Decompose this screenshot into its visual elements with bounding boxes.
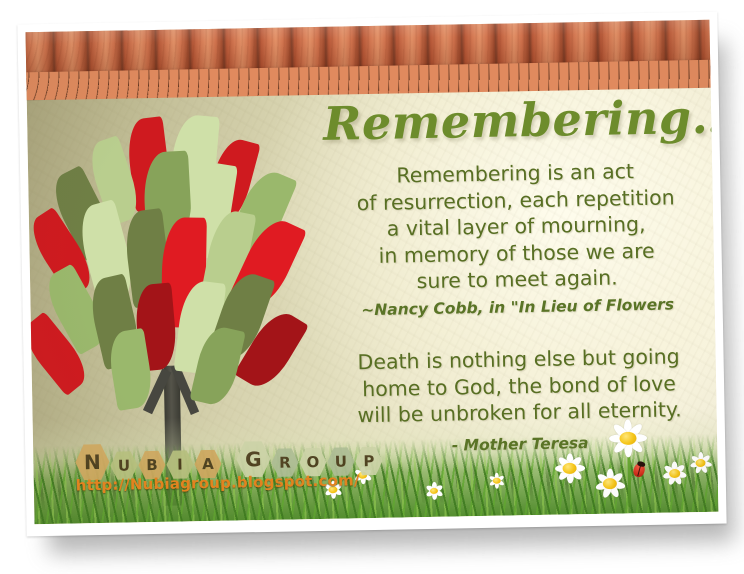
daisy-flower xyxy=(486,470,508,492)
watermark-url: http://Nubiagroup.blogspot.com/ xyxy=(76,471,360,494)
daisy-flower xyxy=(422,479,446,503)
daisy-flower xyxy=(590,463,631,504)
watermark-logo: N U B I A G R O U P http://Nubiagroup.bl… xyxy=(75,438,376,505)
card-text-column: Remembering… Remembering is an act of re… xyxy=(323,94,711,457)
quote-line: will be unbroken for all eternity. xyxy=(328,396,710,430)
roof-tiles-banner xyxy=(26,20,719,101)
daisy-flower xyxy=(549,448,590,489)
page-title: Remembering… xyxy=(323,94,706,148)
daisy-flower xyxy=(685,448,716,479)
quote-two: Death is nothing else but going home to … xyxy=(327,343,710,430)
tree-canopy xyxy=(33,113,338,398)
photo-canvas: Remembering… Remembering is an act of re… xyxy=(26,20,719,524)
memorial-card-screenshot: Remembering… Remembering is an act of re… xyxy=(0,0,744,574)
quote-one-attribution: ~Nancy Cobb, in "In Lieu of Flowers xyxy=(327,295,709,320)
photo-frame: Remembering… Remembering is an act of re… xyxy=(17,12,726,537)
quote-one: Remembering is an act of resurrection, e… xyxy=(324,157,708,297)
